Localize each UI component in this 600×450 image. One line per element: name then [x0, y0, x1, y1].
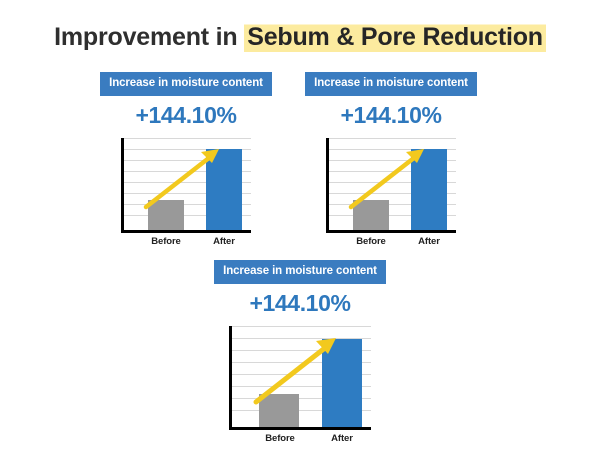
xlabel-after-3: After	[308, 433, 376, 444]
growth-arrow-1	[121, 138, 251, 233]
xlabel-after-2: After	[397, 236, 461, 247]
bar-chart-2	[326, 138, 456, 233]
y-axis	[229, 326, 232, 430]
y-axis	[326, 138, 329, 233]
title-text: Improvement in Sebum & Pore Reduction	[54, 22, 546, 52]
x-axis	[121, 230, 251, 233]
badge-label-2: Increase in moisture content	[305, 72, 477, 96]
stat-panel-2: Increase in moisture content +144.10% Be…	[291, 72, 491, 250]
xlabel-before-1: Before	[134, 236, 198, 247]
plot-area-1	[121, 138, 251, 233]
growth-arrow-3	[229, 326, 371, 430]
x-axis	[229, 427, 371, 430]
stat-panel-3: Increase in moisture content +144.10% Be…	[200, 260, 400, 447]
x-axis-labels-3: Before After	[229, 433, 371, 447]
bar-chart-1	[121, 138, 251, 233]
y-axis	[121, 138, 124, 233]
bar-chart-3	[229, 326, 371, 430]
title-plain-part: Improvement in	[54, 23, 244, 51]
xlabel-before-3: Before	[246, 433, 314, 444]
xlabel-after-1: After	[192, 236, 256, 247]
badge-label-3: Increase in moisture content	[214, 260, 386, 284]
page-title: Improvement in Sebum & Pore Reduction	[0, 22, 600, 52]
x-axis	[326, 230, 456, 233]
percent-value-2: +144.10%	[291, 102, 491, 129]
growth-arrow-2	[326, 138, 456, 233]
x-axis-labels-2: Before After	[326, 236, 456, 250]
x-axis-labels-1: Before After	[121, 236, 251, 250]
plot-area-3	[229, 326, 371, 430]
badge-label-1: Increase in moisture content	[100, 72, 272, 96]
xlabel-before-2: Before	[339, 236, 403, 247]
plot-area-2	[326, 138, 456, 233]
title-highlighted-part: Sebum & Pore Reduction	[244, 23, 546, 52]
percent-value-3: +144.10%	[200, 290, 400, 317]
stat-panel-1: Increase in moisture content +144.10% Be…	[86, 72, 286, 250]
percent-value-1: +144.10%	[86, 102, 286, 129]
